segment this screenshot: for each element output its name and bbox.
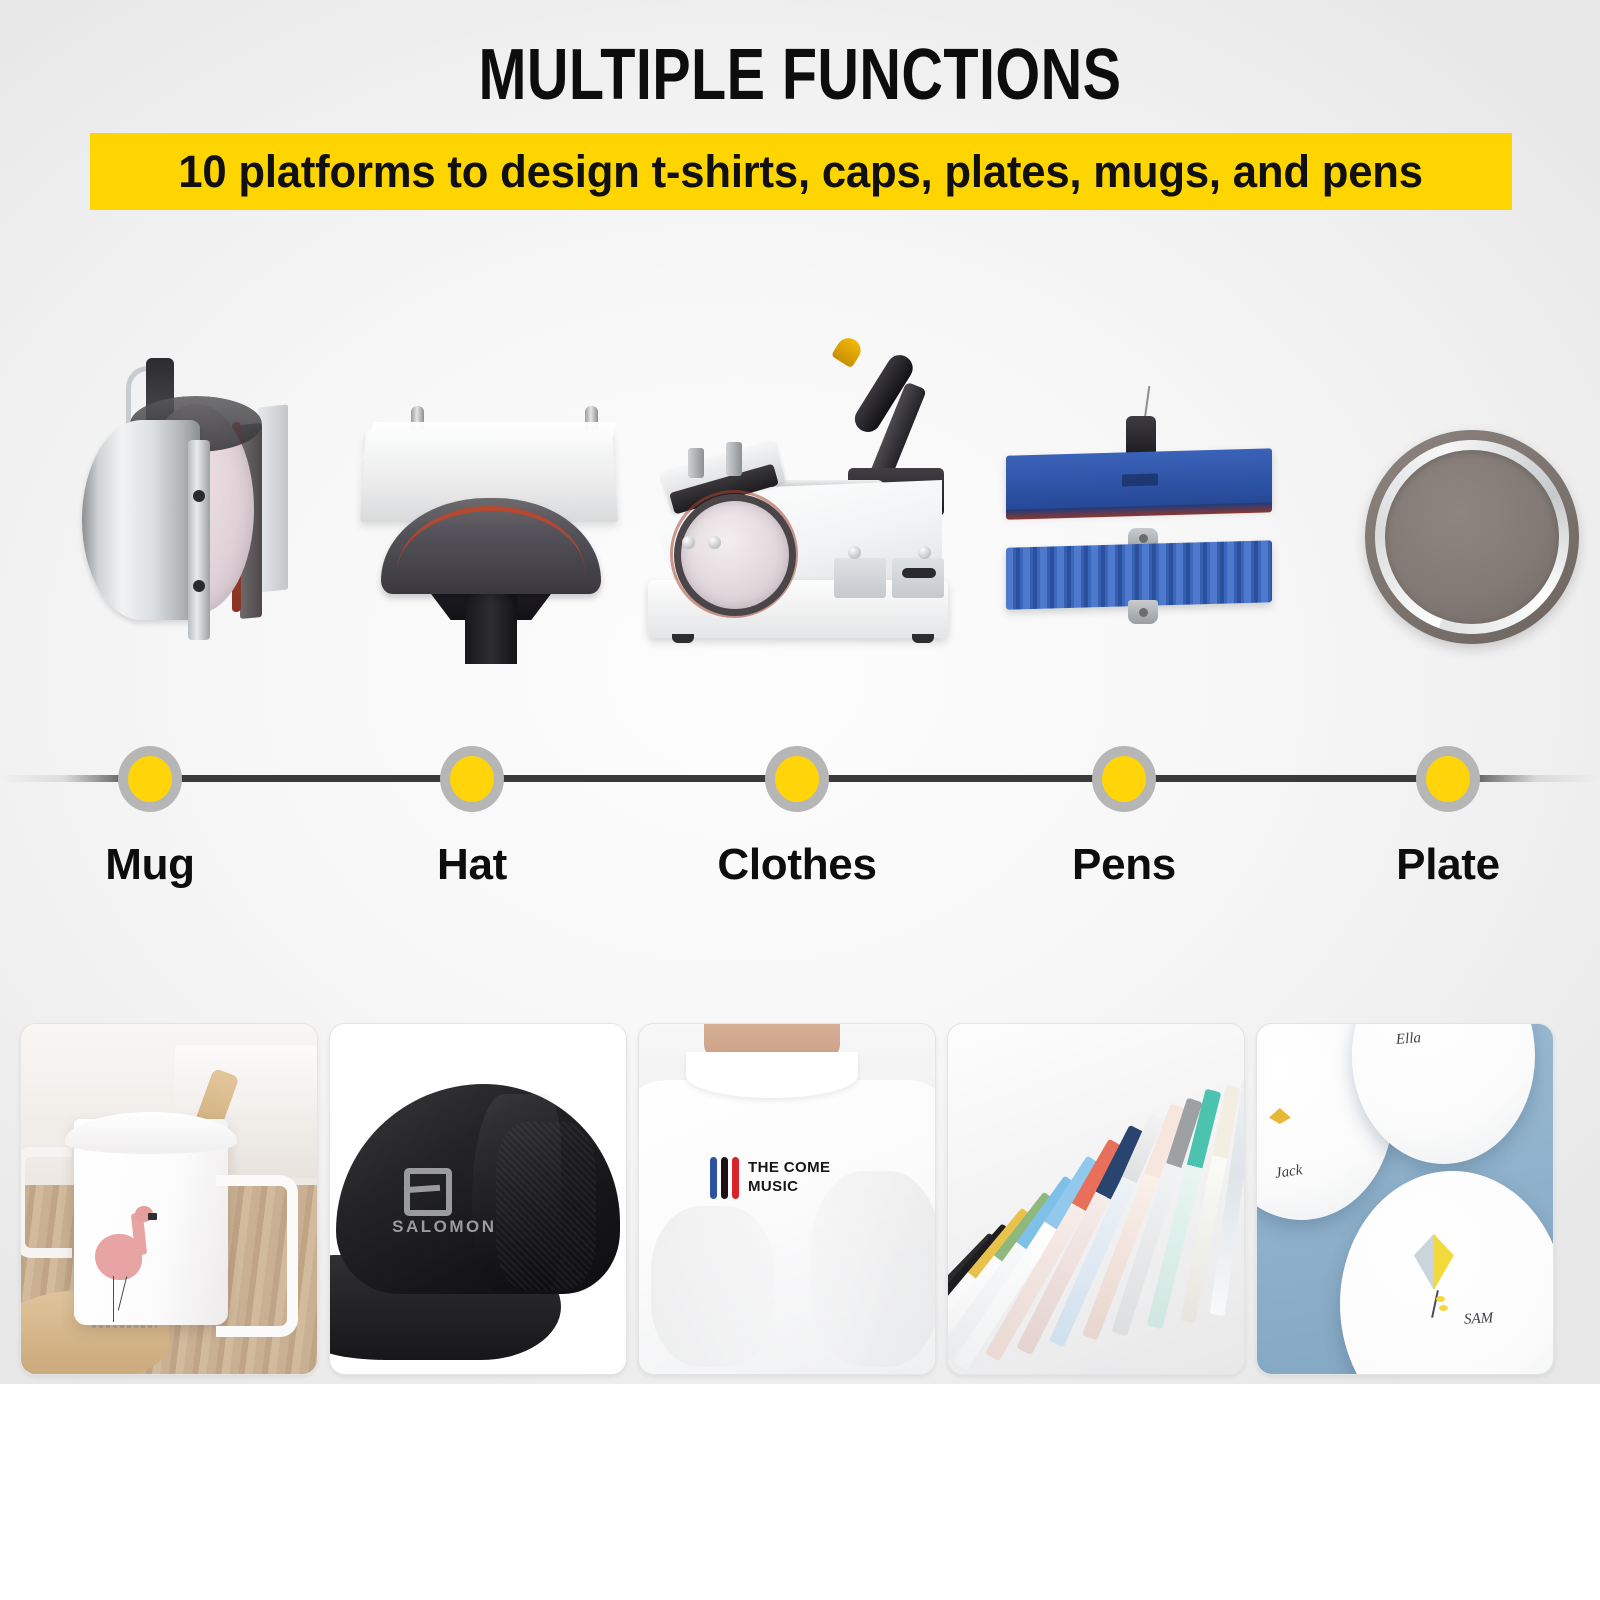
mug-photo (21, 1024, 317, 1374)
hat-top-face (361, 422, 618, 462)
timeline-dot-plate[interactable] (1416, 746, 1480, 812)
press-foot (672, 634, 694, 643)
mug-wrap-icon (60, 330, 345, 710)
press-foot (912, 634, 934, 643)
mug-outer-shell (82, 420, 200, 620)
cap-brand-text: SALOMON (392, 1217, 496, 1237)
pens-photo (948, 1024, 1244, 1374)
printed-logo: THE COME MUSIC (710, 1157, 830, 1199)
plate-name-sam: SAM (1464, 1310, 1494, 1329)
tshirt-collar (686, 1052, 858, 1098)
timeline-dot-hat[interactable] (440, 746, 504, 812)
tshirt-fold-shadow (651, 1206, 775, 1367)
press-mug-platen (674, 494, 796, 616)
plate-platen-icon (1345, 330, 1595, 710)
plates-photo-card[interactable]: Ella Jack SAM (1256, 1023, 1554, 1375)
pen-platen-icon (1000, 330, 1280, 710)
pen-platen-connector (1126, 416, 1156, 456)
press-plug (902, 568, 936, 578)
press-screw (848, 546, 861, 559)
mug-backplate (258, 404, 288, 592)
infographic-canvas: MULTIPLE FUNCTIONS 10 platforms to desig… (0, 0, 1600, 1600)
hat-platen-icon (345, 330, 635, 710)
footer-whitespace (0, 1384, 1600, 1600)
pen-platen-tab-hole (1139, 534, 1148, 543)
flamingo-leg (113, 1276, 114, 1322)
logo-text-line-2: MUSIC (748, 1178, 830, 1197)
kite-body (1414, 1234, 1454, 1290)
timeline-label-pens: Pens (974, 840, 1274, 890)
logo-text-line-1: THE COME (748, 1159, 830, 1178)
press-screw (708, 536, 721, 549)
photo-card-row: SALOMON THE COME MUSIC (0, 1023, 1600, 1373)
pens-photo-card[interactable] (947, 1023, 1245, 1375)
cap-photo-card[interactable]: SALOMON (329, 1023, 627, 1375)
flamingo-caption-text (92, 1325, 157, 1328)
tshirt-fold-shadow (811, 1171, 936, 1367)
logo-bar-red (732, 1157, 739, 1199)
plate-name-ella: Ella (1396, 1030, 1422, 1049)
press-screw (682, 536, 695, 549)
timeline-dot-clothes[interactable] (765, 746, 829, 812)
kite-icon (1414, 1234, 1454, 1290)
mug-hinge-bar (188, 440, 210, 640)
photo-background-mug-handle (20, 1147, 72, 1258)
pen-platen-logo (1122, 473, 1158, 486)
kite-bow (1436, 1296, 1445, 1302)
press-panel-window (834, 558, 886, 598)
pen-platen-tab-hole (1139, 608, 1148, 617)
logo-text: THE COME MUSIC (748, 1159, 830, 1197)
kite-bow (1439, 1305, 1448, 1311)
press-screw (918, 546, 931, 559)
press-clamp (688, 448, 704, 478)
subtitle-text: 10 platforms to design t-shirts, caps, p… (179, 146, 1424, 198)
mug-photo-card[interactable] (20, 1023, 318, 1375)
mug-hinge-hole (193, 580, 205, 592)
timeline-label-mug: Mug (0, 840, 300, 890)
tshirt-photo: THE COME MUSIC (639, 1024, 935, 1374)
press-clamp (726, 442, 742, 476)
product-illustration-row (0, 330, 1600, 710)
tshirt-photo-card[interactable]: THE COME MUSIC (638, 1023, 936, 1375)
pen-platen-wire (1144, 386, 1151, 420)
timeline-label-plate: Plate (1298, 840, 1598, 890)
timeline-label-clothes: Clothes (647, 840, 947, 890)
salomon-mark-icon (404, 1168, 452, 1216)
plates-photo: Ella Jack SAM (1257, 1024, 1553, 1374)
mug-hinge-hole (193, 490, 205, 502)
timeline-dot-mug[interactable] (118, 746, 182, 812)
flamingo-beak (148, 1213, 157, 1220)
logo-bar-black (721, 1157, 728, 1199)
timeline-label-hat: Hat (322, 840, 622, 890)
press-panel-window (892, 558, 944, 598)
cap-photo: SALOMON (330, 1024, 626, 1374)
cap-mesh-panel (496, 1122, 597, 1290)
press-handle-tip (831, 334, 865, 369)
logo-bar-blue (710, 1157, 717, 1199)
timeline-dot-pens[interactable] (1092, 746, 1156, 812)
heat-press-icon (630, 330, 960, 710)
subtitle-banner: 10 platforms to design t-shirts, caps, p… (90, 133, 1512, 210)
plate-platen-surface (1385, 450, 1559, 624)
logo-bars-icon (710, 1157, 739, 1199)
page-title: MULTIPLE FUNCTIONS (160, 34, 1440, 116)
mug-handle (216, 1175, 298, 1337)
